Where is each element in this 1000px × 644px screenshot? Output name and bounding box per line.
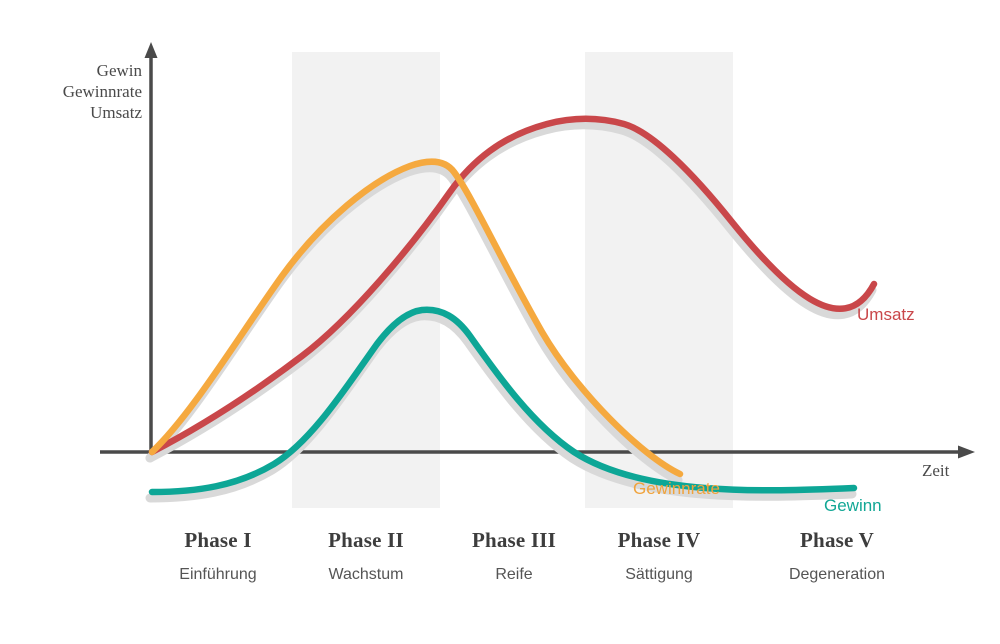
phase-caption-4: Phase IV Sättigung [564,528,754,584]
x-axis-arrow [958,446,975,459]
product-lifecycle-chart: Gewin Gewinnrate Umsatz Zeit Umsatz Gewi… [0,0,1000,644]
phase-caption-5: Phase V Degeneration [742,528,932,584]
x-axis-title: Zeit [922,461,949,481]
axis-group [100,42,975,459]
phase-subtitle: Degeneration [742,566,932,584]
y-axis-title-line-1: Gewin [0,60,142,81]
phase-band-phase-ii [292,52,440,508]
series-label-gewinn: Gewinn [824,496,882,516]
phase-subtitle: Sättigung [564,566,754,584]
y-axis-title: Gewin Gewinnrate Umsatz [0,60,142,123]
phase-title: Phase V [742,528,932,553]
phase-title: Phase IV [564,528,754,553]
series-line-gewinn [152,310,854,492]
y-axis-title-line-2: Gewinnrate [0,81,142,102]
series-label-gewinnrate: Gewinnrate [633,479,720,499]
series-label-umsatz: Umsatz [857,305,915,325]
y-axis-title-line-3: Umsatz [0,102,142,123]
y-axis-arrow [145,42,158,58]
